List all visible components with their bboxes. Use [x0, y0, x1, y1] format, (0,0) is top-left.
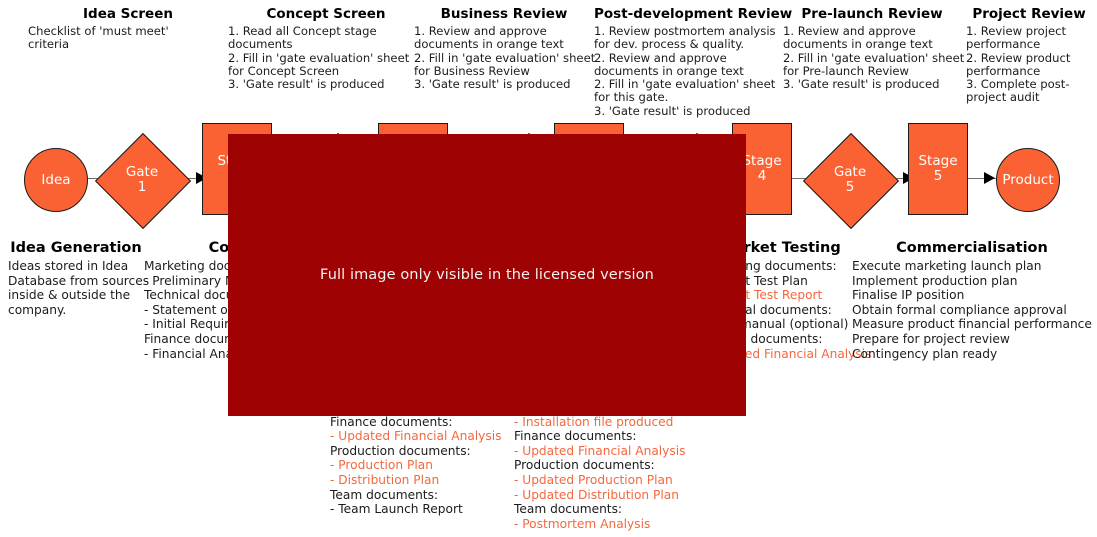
flow-node-label: Stage 4 — [742, 154, 781, 184]
gate-body: 1. Review and approvedocuments in orange… — [414, 25, 594, 91]
text-line: for Concept Screen — [228, 65, 424, 78]
flow-node-product[interactable]: Product — [996, 148, 1060, 212]
flow-node-gate-1[interactable]: Gate 1 — [108, 146, 176, 214]
stage-desc-idea-generation: Idea Generation Ideas stored in IdeaData… — [8, 240, 144, 317]
text-line: 3. Complete post- — [966, 78, 1092, 91]
gate-header-business-review: Business Review 1. Review and approvedoc… — [414, 6, 594, 91]
gate-header-concept-screen: Concept Screen 1. Read all Concept stage… — [228, 6, 424, 91]
gate-title: Concept Screen — [228, 6, 424, 22]
gate-header-idea-screen: Idea Screen Checklist of 'must meet'crit… — [28, 6, 228, 52]
document-line-required: - Updated Distribution Plan — [514, 488, 724, 503]
text-line: 1. Review postmortem analysis — [594, 25, 778, 38]
gate-title: Post-development Review — [594, 6, 778, 22]
document-line-required: - Updated Financial Analysis — [514, 444, 724, 459]
text-line: documents in orange text — [594, 65, 778, 78]
gate-title: Idea Screen — [28, 6, 228, 22]
flow-node-label: Idea — [41, 173, 70, 188]
licence-watermark-overlay: Full image only visible in the licensed … — [228, 134, 746, 416]
gate-body: Checklist of 'must meet'criteria — [28, 25, 228, 52]
flow-node-stage-5[interactable]: Stage 5 — [908, 123, 968, 215]
text-line: 3. 'Gate result' is produced — [228, 78, 424, 91]
document-line: Prepare for project review — [852, 332, 1092, 347]
text-line: for Pre-launch Review — [783, 65, 961, 78]
licence-overlay-message: Full image only visible in the licensed … — [320, 267, 654, 283]
document-line: Obtain formal compliance approval — [852, 303, 1092, 318]
gate-title: Project Review — [966, 6, 1092, 22]
stage-title: Commercialisation — [852, 240, 1092, 257]
text-line: 1. Review and approve — [414, 25, 594, 38]
flow-node-gate-5[interactable]: Gate 5 — [816, 146, 884, 214]
document-line: company. — [8, 303, 144, 318]
document-line-required: - Distribution Plan — [330, 473, 520, 488]
document-line: Team documents: — [514, 502, 724, 517]
document-line: Contingency plan ready — [852, 347, 1092, 362]
document-line: Production documents: — [330, 444, 520, 459]
gate-title: Business Review — [414, 6, 594, 22]
document-line: Finance documents: — [330, 415, 520, 430]
text-line: 1. Read all Concept stage — [228, 25, 424, 38]
text-line: 2. Review product — [966, 52, 1092, 65]
stage-desc-commercialisation: Commercialisation Execute marketing laun… — [852, 240, 1092, 361]
text-line: 2. Fill in 'gate evaluation' sheet — [228, 52, 424, 65]
text-line: 3. 'Gate result' is produced — [783, 78, 961, 91]
flow-node-label: Gate 5 — [816, 146, 884, 214]
document-line: Implement production plan — [852, 274, 1092, 289]
document-line: Team documents: — [330, 488, 520, 503]
document-line-required: - Installation file produced — [514, 415, 724, 430]
document-line: - Team Launch Report — [330, 502, 520, 517]
text-line: 3. 'Gate result' is produced — [414, 78, 594, 91]
text-line: documents — [228, 38, 424, 51]
document-line: inside & outside the — [8, 288, 144, 303]
document-line: Production documents: — [514, 458, 724, 473]
document-line-required: - Production Plan — [330, 458, 520, 473]
stage-gate-process-diagram: Idea Screen Checklist of 'must meet'crit… — [0, 0, 1097, 537]
text-line: documents in orange text — [414, 38, 594, 51]
document-line-required: - Postmortem Analysis — [514, 517, 724, 532]
text-line: for this gate. — [594, 91, 778, 104]
text-line: 2. Review and approve — [594, 52, 778, 65]
lower-doc-list: - User help files- Installation file pro… — [514, 400, 724, 531]
stage-body: Ideas stored in IdeaDatabase from source… — [8, 259, 144, 317]
flow-node-idea[interactable]: Idea — [24, 148, 88, 212]
text-line: project audit — [966, 91, 1092, 104]
document-line: Execute marketing launch plan — [852, 259, 1092, 274]
stage-title: Idea Generation — [8, 240, 144, 257]
document-line-required: - Updated Financial Analysis — [330, 429, 520, 444]
text-line: 1. Review project — [966, 25, 1092, 38]
document-line: Database from sources — [8, 274, 144, 289]
text-line: for dev. process & quality. — [594, 38, 778, 51]
flow-node-label: Gate 1 — [108, 146, 176, 214]
text-line: 3. 'Gate result' is produced — [594, 105, 778, 118]
lower-docs-testing: - User help files- Installation file pro… — [514, 400, 724, 531]
document-line: Ideas stored in Idea — [8, 259, 144, 274]
gate-header-pre-launch-review: Pre-launch Review 1. Review and approved… — [783, 6, 961, 91]
gate-header-post-development-review: Post-development Review 1. Review postmo… — [594, 6, 778, 118]
stage-body: Execute marketing launch planImplement p… — [852, 259, 1092, 361]
text-line: performance — [966, 38, 1092, 51]
text-line: 1. Review and approve — [783, 25, 961, 38]
flow-node-label: Product — [1002, 173, 1053, 188]
lower-doc-list: Management Plan)Finance documents:- Upda… — [330, 400, 520, 517]
text-line: performance — [966, 65, 1092, 78]
text-line: for Business Review — [414, 65, 594, 78]
document-line: Finalise IP position — [852, 288, 1092, 303]
gate-body: 1. Read all Concept stagedocuments2. Fil… — [228, 25, 424, 91]
lower-docs-development: Management Plan)Finance documents:- Upda… — [330, 400, 520, 517]
gate-title: Pre-launch Review — [783, 6, 961, 22]
gate-body: 1. Review projectperformance2. Review pr… — [966, 25, 1092, 105]
text-line: 2. Fill in 'gate evaluation' sheet — [594, 78, 778, 91]
gate-body: 1. Review and approvedocuments in orange… — [783, 25, 961, 91]
text-line: 2. Fill in 'gate evaluation' sheet — [414, 52, 594, 65]
arrowhead-product — [984, 172, 995, 184]
document-line: Finance documents: — [514, 429, 724, 444]
text-line: criteria — [28, 38, 228, 51]
gate-header-project-review: Project Review 1. Review projectperforma… — [966, 6, 1092, 105]
gate-body: 1. Review postmortem analysisfor dev. pr… — [594, 25, 778, 118]
text-line: Checklist of 'must meet' — [28, 25, 228, 38]
document-line: Measure product financial performance — [852, 317, 1092, 332]
text-line: 2. Fill in 'gate evaluation' sheet — [783, 52, 961, 65]
text-line: documents in orange text — [783, 38, 961, 51]
flow-node-label: Stage 5 — [918, 154, 957, 184]
document-line-required: - Updated Production Plan — [514, 473, 724, 488]
